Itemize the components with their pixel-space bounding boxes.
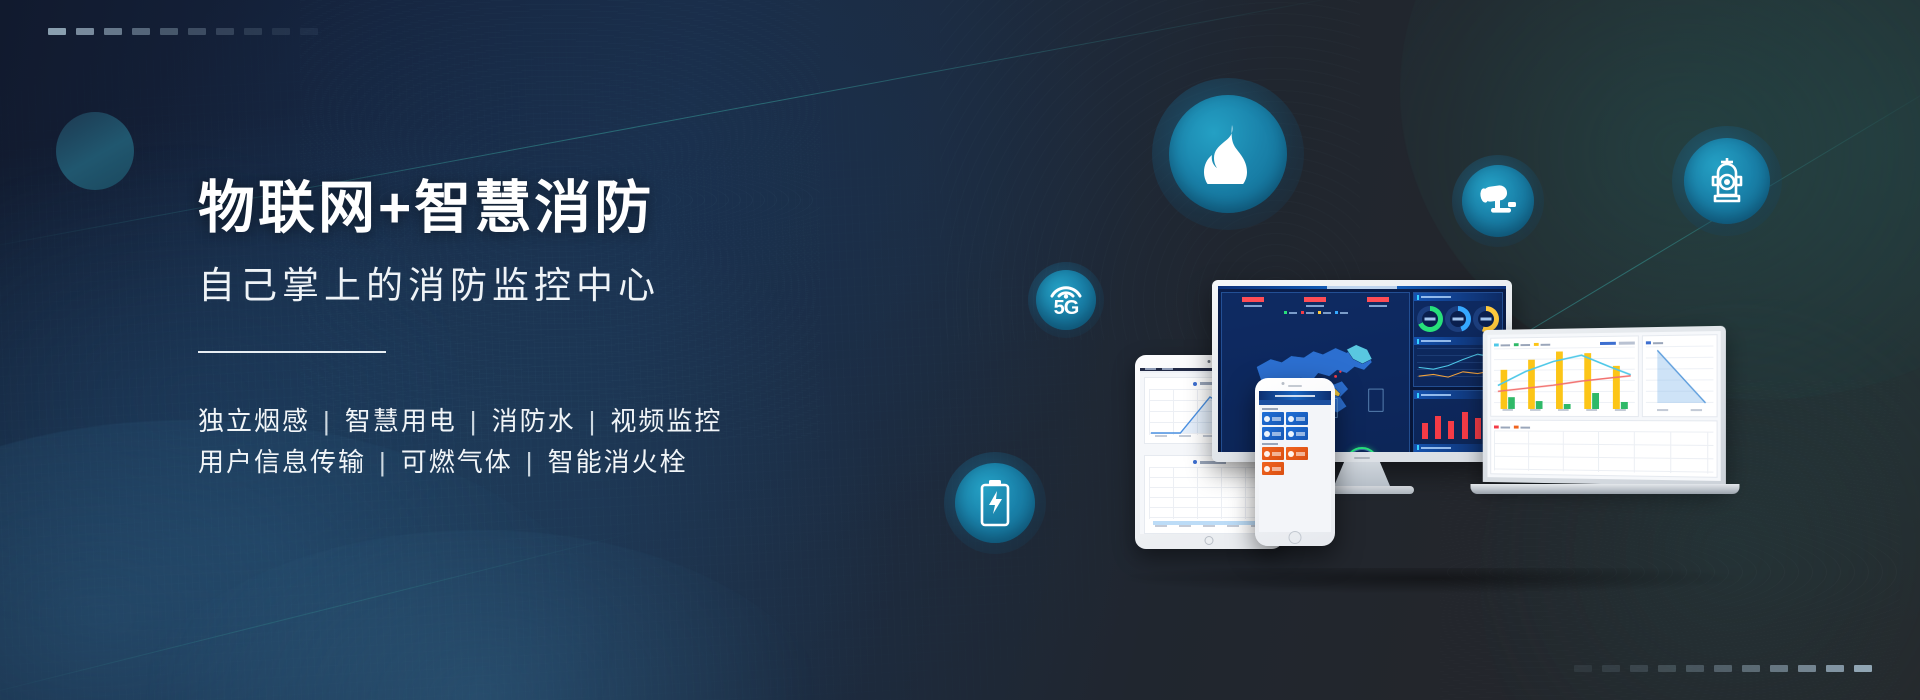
feature-list: 独立烟感 | 智慧用电 | 消防水 | 视频监控 用户信息传输 | 可燃气体 |… bbox=[198, 401, 722, 483]
phone-tile[interactable] bbox=[1262, 462, 1284, 475]
laptop-bar-chart bbox=[1494, 347, 1635, 409]
chart-legend bbox=[1646, 341, 1663, 344]
feature-line-2: 用户信息传输 | 可燃气体 | 智能消火栓 bbox=[198, 442, 722, 483]
phone-camera-icon bbox=[1282, 382, 1285, 385]
feature-separator: | bbox=[379, 442, 388, 483]
5g-label: 5G bbox=[1054, 298, 1079, 318]
table-legend bbox=[1494, 426, 1530, 429]
hero-banner: 物联网+智慧消防 自己掌上的消防监控中心 独立烟感 | 智慧用电 | 消防水 |… bbox=[0, 0, 1920, 700]
phone-section-orange bbox=[1259, 440, 1331, 475]
phone-screen bbox=[1259, 391, 1331, 532]
laptop-top-row bbox=[1490, 334, 1717, 417]
battery-bolt-icon bbox=[977, 478, 1013, 528]
flame-icon bbox=[1202, 124, 1254, 184]
feature-separator: | bbox=[323, 401, 332, 442]
phone-mockup[interactable] bbox=[1255, 378, 1335, 546]
radar-chart-right bbox=[1345, 447, 1379, 452]
laptop-area-chart-card bbox=[1642, 334, 1718, 417]
monitor-stand bbox=[1334, 462, 1390, 486]
laptop-mockup[interactable] bbox=[1478, 328, 1750, 518]
laptop-x-axis bbox=[1494, 409, 1635, 413]
kpi-item bbox=[1367, 297, 1389, 307]
phone-tile[interactable] bbox=[1262, 447, 1284, 460]
battery-icon-bubble[interactable] bbox=[944, 452, 1046, 554]
laptop-table-card bbox=[1490, 420, 1717, 478]
bubble-core: 5G bbox=[1036, 270, 1096, 330]
phone-tile-grid-blue bbox=[1262, 412, 1328, 440]
feature-separator: | bbox=[589, 401, 598, 442]
hero-copy: 物联网+智慧消防 自己掌上的消防监控中心 独立烟感 | 智慧用电 | 消防水 |… bbox=[198, 176, 722, 483]
feature-separator: | bbox=[526, 442, 535, 483]
bubble-core bbox=[955, 463, 1035, 543]
background-blob-bottom-left-2 bbox=[120, 530, 840, 700]
kpi-item bbox=[1304, 297, 1326, 307]
divider bbox=[198, 351, 386, 353]
tablet-camera-icon bbox=[1208, 360, 1211, 363]
table-grid bbox=[1494, 430, 1713, 473]
laptop-area-chart bbox=[1646, 345, 1713, 409]
phone-section-blue bbox=[1259, 405, 1331, 440]
gauge-online bbox=[1417, 306, 1443, 332]
bullet-icon bbox=[1193, 460, 1197, 464]
dashboard-kpi-row bbox=[1222, 293, 1409, 309]
phone-tile[interactable] bbox=[1286, 412, 1308, 425]
phone-speaker bbox=[1288, 385, 1302, 387]
feature-item-hydrant: 智能消火栓 bbox=[548, 442, 688, 483]
feature-separator: | bbox=[470, 401, 479, 442]
chart-tab-group[interactable] bbox=[1600, 342, 1635, 346]
feature-item-smoke: 独立烟感 bbox=[198, 401, 310, 442]
circle-decoration bbox=[56, 112, 134, 190]
kpi-item bbox=[1242, 297, 1264, 307]
section-label bbox=[1262, 443, 1278, 445]
phone-tile[interactable] bbox=[1262, 427, 1284, 440]
feature-line-1: 独立烟感 | 智慧用电 | 消防水 | 视频监控 bbox=[198, 401, 722, 442]
feature-item-video: 视频监控 bbox=[610, 401, 722, 442]
bubble-core bbox=[1462, 165, 1534, 237]
phone-tile-grid-orange bbox=[1262, 447, 1328, 475]
device-mockup-cluster bbox=[1120, 280, 1740, 580]
camera-icon bbox=[1477, 182, 1519, 220]
laptop-bar-chart-card bbox=[1490, 335, 1639, 417]
dash-marks-top-left bbox=[48, 28, 318, 35]
tablet-home-button bbox=[1205, 536, 1214, 545]
camera-icon-bubble[interactable] bbox=[1452, 155, 1544, 247]
feature-item-water: 消防水 bbox=[492, 401, 576, 442]
laptop-screen bbox=[1487, 331, 1720, 481]
phone-app-header bbox=[1259, 391, 1331, 400]
laptop-lid bbox=[1483, 326, 1726, 486]
phone-tile[interactable] bbox=[1286, 427, 1308, 440]
feature-item-power: 智慧用电 bbox=[345, 401, 457, 442]
phone-home-button[interactable] bbox=[1289, 531, 1302, 544]
map-legend bbox=[1222, 309, 1409, 316]
section-label bbox=[1262, 408, 1278, 410]
phone-tile[interactable] bbox=[1286, 447, 1308, 460]
tablet-x-axis bbox=[1149, 525, 1269, 529]
flame-icon-bubble[interactable] bbox=[1152, 78, 1304, 230]
page-subtitle: 自己掌上的消防监控中心 bbox=[198, 255, 722, 309]
bubble-core bbox=[1169, 95, 1287, 213]
hydrant-icon-bubble[interactable] bbox=[1672, 126, 1782, 236]
5g-signal-icon: 5G bbox=[1049, 283, 1083, 318]
chart-legend bbox=[1494, 343, 1550, 347]
diagonal-accent-line-3 bbox=[0, 531, 639, 700]
laptop-x-axis bbox=[1646, 409, 1713, 413]
phone-tile[interactable] bbox=[1262, 412, 1284, 425]
dash-marks-bottom-right bbox=[1574, 665, 1872, 672]
panel-header bbox=[1414, 293, 1502, 301]
hydrant-icon bbox=[1703, 153, 1751, 209]
bubble-core bbox=[1684, 138, 1770, 224]
gauge-offline bbox=[1445, 306, 1471, 332]
feature-item-user-info: 用户信息传输 bbox=[198, 442, 366, 483]
page-title: 物联网+智慧消防 bbox=[198, 176, 722, 241]
bullet-icon bbox=[1193, 382, 1197, 386]
overlay-line-series bbox=[1494, 347, 1635, 409]
5g-icon-bubble[interactable]: 5G bbox=[1028, 262, 1104, 338]
feature-item-gas: 可燃气体 bbox=[401, 442, 513, 483]
laptop-base bbox=[1471, 484, 1740, 494]
